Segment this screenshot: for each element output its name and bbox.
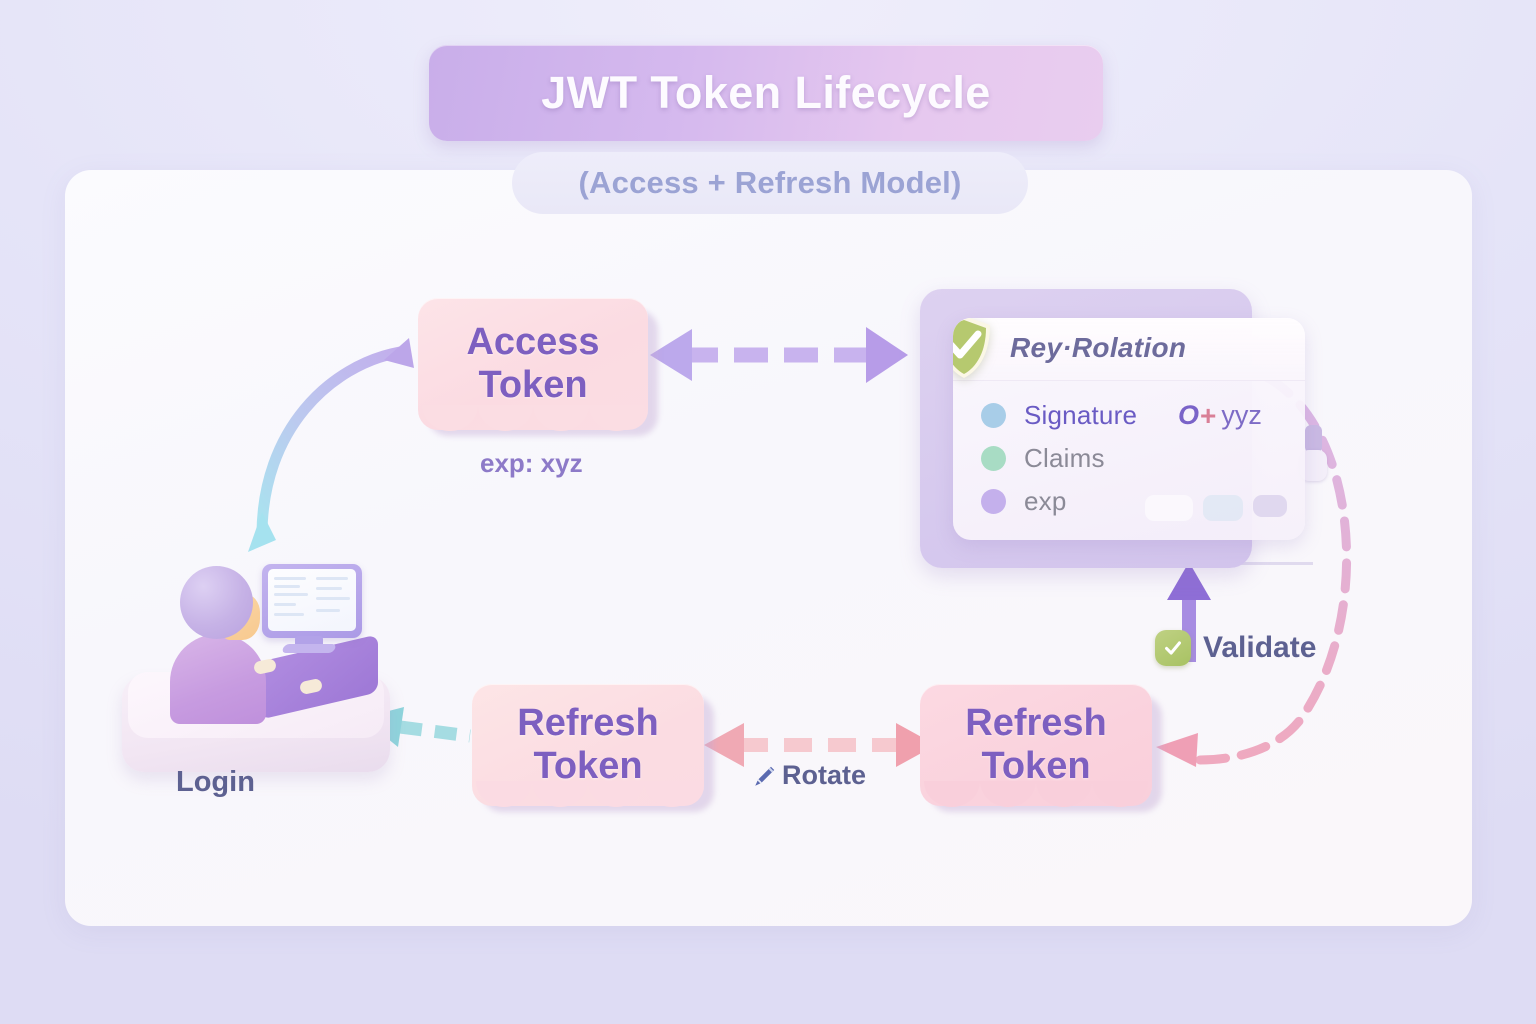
diagram-subtitle-pill: (Access + Refresh Model) <box>512 152 1028 214</box>
access-token-exp: exp: xyz <box>480 448 583 479</box>
node-login-illustration[interactable] <box>122 556 422 806</box>
monitor-screen <box>268 569 356 631</box>
ticket-scallop <box>422 405 644 431</box>
check-badge-icon <box>1155 630 1191 666</box>
check-glyph <box>1162 637 1184 659</box>
node-refresh-token-left[interactable]: Refresh Token <box>472 684 704 806</box>
node-key-rotation-panel[interactable]: Rey·Rolation Signature Claims exp O + <box>920 289 1252 568</box>
panel-item-label: Claims <box>1024 443 1105 474</box>
panel-item-list: Signature Claims exp <box>981 394 1137 523</box>
annotation-validate: Validate <box>1155 630 1316 666</box>
node-refresh-token-right[interactable]: Refresh Token <box>920 684 1152 806</box>
refresh-token-right-body: Refresh Token <box>920 684 1152 806</box>
diagram-canvas: JWT Token Lifecycle (Access + Refresh Mo… <box>0 0 1536 1024</box>
signature-value-plus: + <box>1200 400 1216 432</box>
rotate-label: Rotate <box>782 760 866 791</box>
pencil-icon <box>752 763 778 789</box>
person-head <box>180 566 253 639</box>
bullet-dot-signature <box>981 403 1006 428</box>
diagram-title-banner: JWT Token Lifecycle <box>429 45 1103 141</box>
deco-chip-1 <box>1145 495 1193 521</box>
signature-value-o: O <box>1178 400 1199 431</box>
refresh-token-right-label: Refresh Token <box>965 702 1107 787</box>
person-body <box>170 634 266 724</box>
access-token-label: Access Token <box>466 321 599 406</box>
panel-signature-value: O + yyz <box>1178 394 1262 437</box>
panel-item-claims[interactable]: Claims <box>981 437 1137 480</box>
bullet-dot-exp <box>981 489 1006 514</box>
signature-value-yyz: yyz <box>1221 400 1262 431</box>
monitor-base <box>281 644 337 653</box>
panel-item-label: Signature <box>1024 400 1137 431</box>
panel-item-signature[interactable]: Signature <box>981 394 1137 437</box>
diagram-title: JWT Token Lifecycle <box>541 67 990 119</box>
panel-item-exp[interactable]: exp <box>981 480 1137 523</box>
refresh-token-left-label: Refresh Token <box>517 702 659 787</box>
panel-title: Rey·Rolation <box>1010 332 1186 364</box>
login-label: Login <box>176 766 255 799</box>
validate-label: Validate <box>1203 631 1316 665</box>
node-access-token[interactable]: Access Token <box>418 298 648 430</box>
refresh-token-left-body: Refresh Token <box>472 684 704 806</box>
panel-item-label: exp <box>1024 486 1067 517</box>
access-token-body: Access Token <box>418 298 648 430</box>
diagram-subtitle: (Access + Refresh Model) <box>579 165 962 201</box>
bullet-dot-claims <box>981 446 1006 471</box>
deco-chip-2 <box>1203 495 1243 521</box>
deco-chip-3 <box>1253 495 1287 517</box>
annotation-rotate: Rotate <box>752 760 866 791</box>
panel-card: Rey·Rolation Signature Claims exp O + <box>953 318 1305 540</box>
plug-connector-icon <box>1305 425 1322 453</box>
shield-check-icon <box>953 318 996 382</box>
